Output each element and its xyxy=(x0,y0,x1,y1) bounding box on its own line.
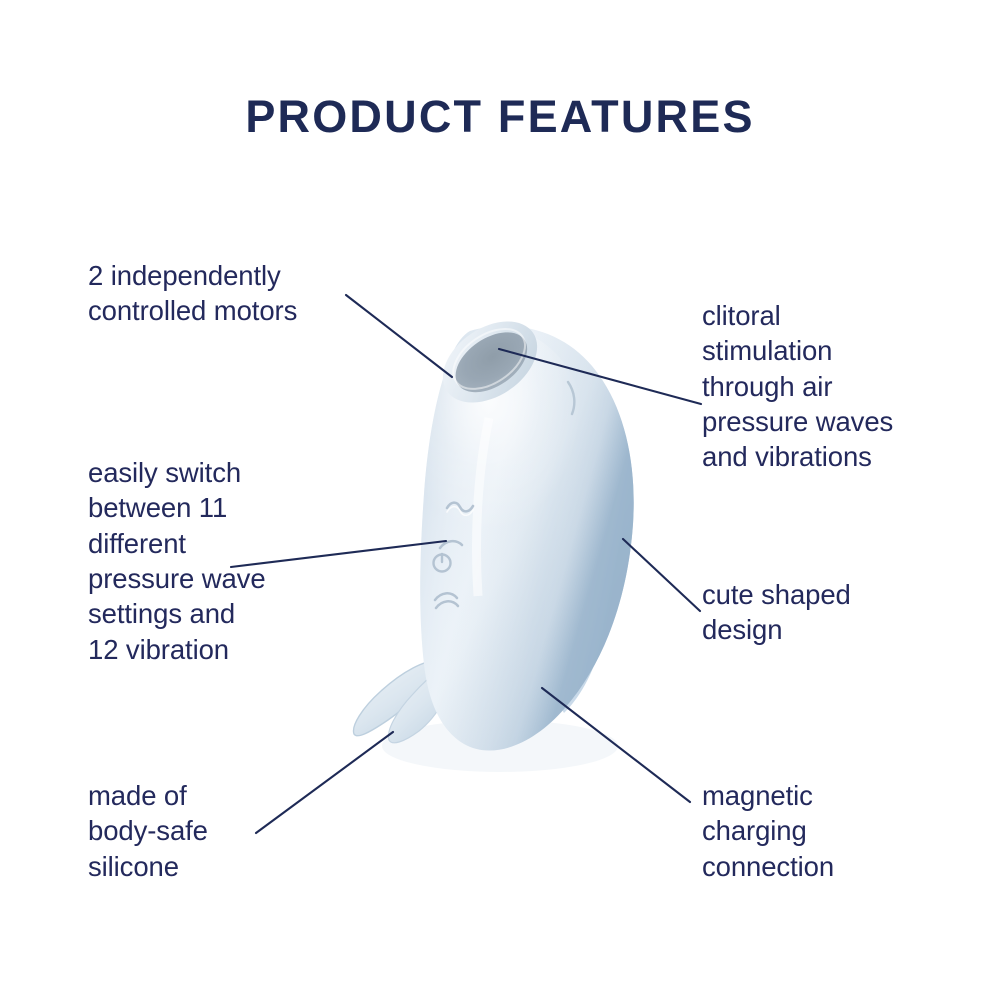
product-features-infographic: PRODUCT FEATURES 2 independently control… xyxy=(0,0,1000,1000)
callout-magnetic-charging-connection: magnetic charging connection xyxy=(702,778,952,884)
callout-body-safe-silicone: made of body-safe silicone xyxy=(88,778,338,884)
callout-pressure-wave-settings: easily switch between 11 different press… xyxy=(88,455,358,667)
callout-clitoral-stimulation: clitoral stimulation through air pressur… xyxy=(702,298,1000,475)
page-title: PRODUCT FEATURES xyxy=(0,92,1000,142)
callout-2-independently-controlled-motors: 2 independently controlled motors xyxy=(88,258,388,329)
callout-cute-shaped-design: cute shaped design xyxy=(702,577,952,648)
